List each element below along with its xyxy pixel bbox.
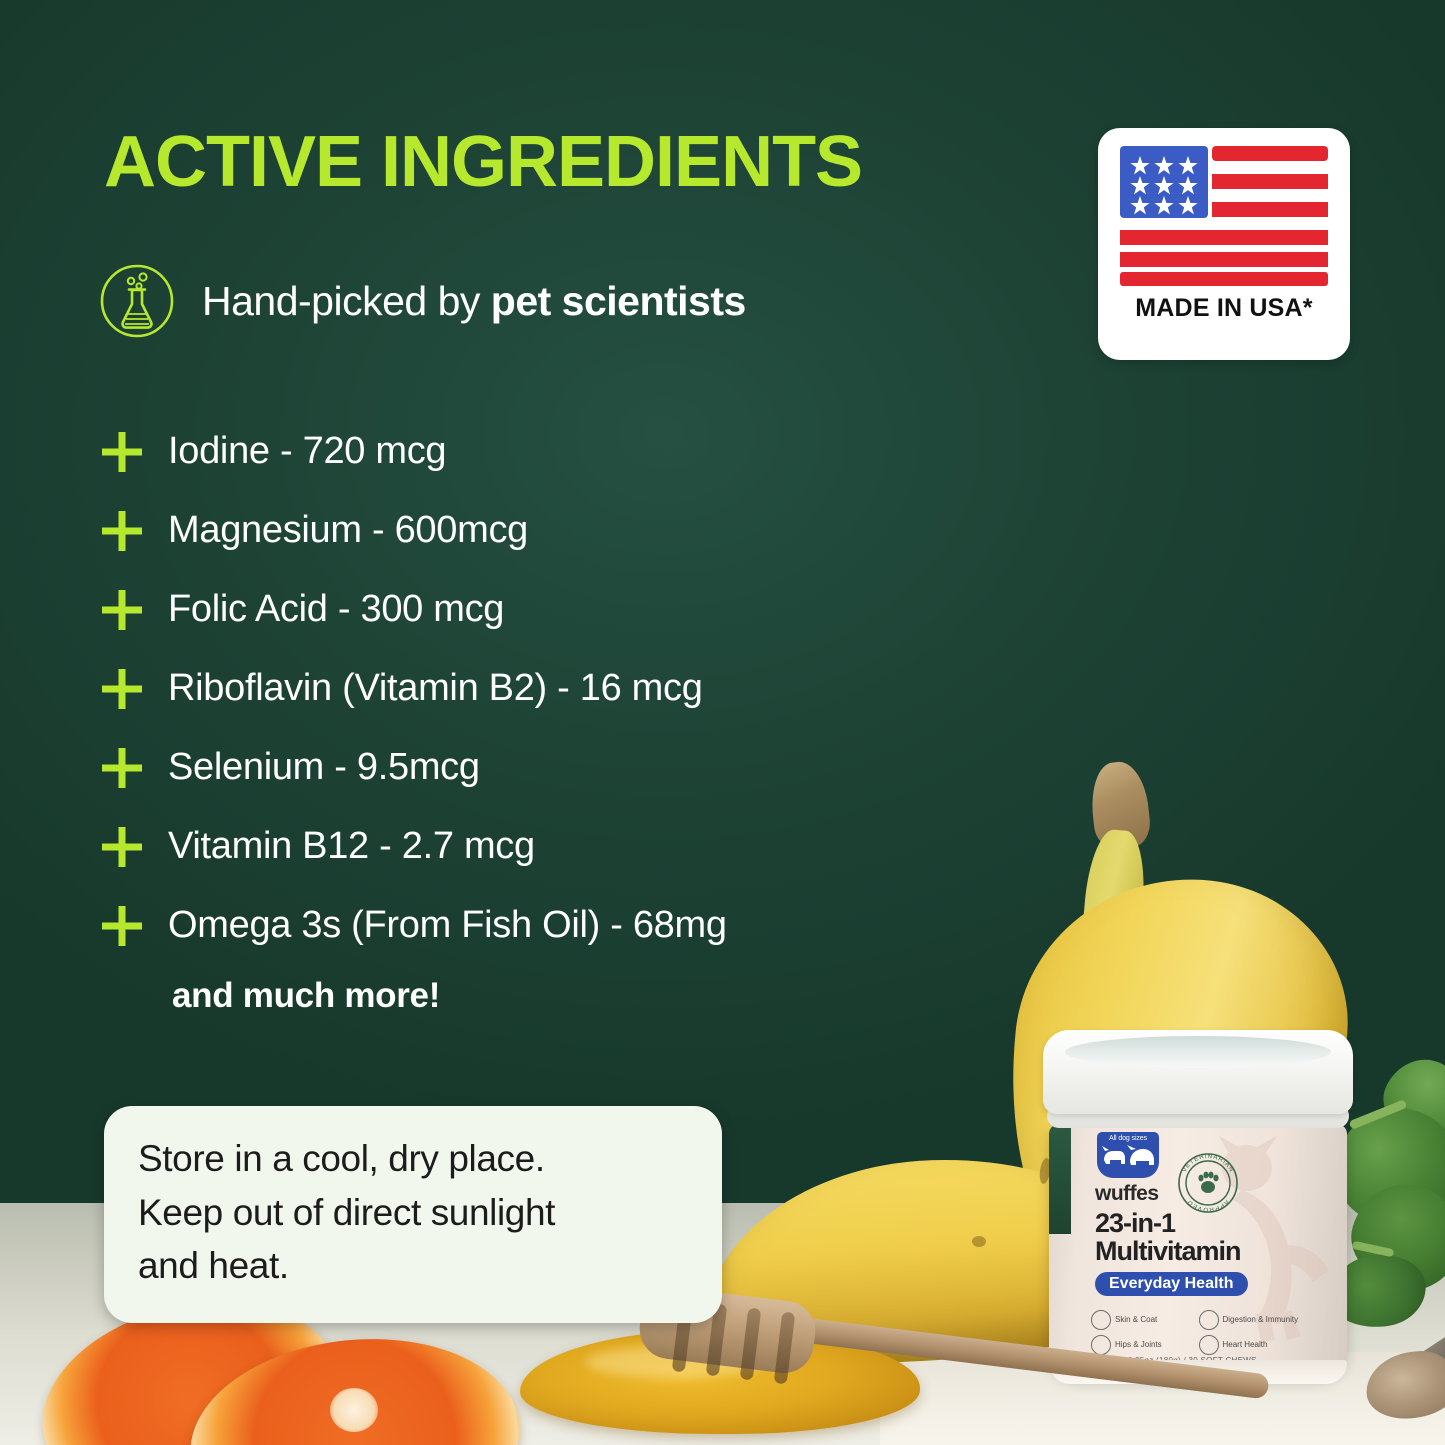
benefit-label: Digestion & Immunity — [1223, 1316, 1299, 1324]
veterinarian-approved-seal: VETERINARIAN APPROVED — [1177, 1152, 1239, 1214]
skin-coat-icon — [1091, 1310, 1111, 1330]
benefit-label: Hips & Joints — [1115, 1341, 1162, 1349]
ingredient-label: Folic Acid - 300 mcg — [168, 588, 504, 631]
page-title: ACTIVE INGREDIENTS — [104, 126, 862, 198]
plus-icon — [100, 588, 144, 632]
storage-line: and heat. — [138, 1239, 688, 1293]
ingredient-row: Omega 3s (From Fish Oil) - 68mg — [100, 886, 1000, 965]
usa-flag-icon — [1120, 144, 1328, 286]
ingredient-label: Riboflavin (Vitamin B2) - 16 mcg — [168, 667, 703, 710]
benefit-label: Skin & Coat — [1115, 1316, 1157, 1324]
ingredient-label: Selenium - 9.5mcg — [168, 746, 480, 789]
ingredient-row: Iodine - 720 mcg — [100, 412, 1000, 491]
jar-lid-opening — [1065, 1036, 1331, 1068]
everyday-health-pill: Everyday Health — [1095, 1272, 1248, 1296]
svg-text:VETERINARIAN: VETERINARIAN — [1181, 1153, 1235, 1174]
subtitle-text: Hand-picked by pet scientists — [202, 278, 746, 325]
product-name-line1: 23-in-1 — [1095, 1208, 1175, 1239]
ingredient-row: Vitamin B12 - 2.7 mcg — [100, 807, 1000, 886]
plus-icon — [100, 667, 144, 711]
storage-line: Keep out of direct sunlight — [138, 1186, 688, 1240]
flask-icon — [98, 262, 176, 340]
ingredient-row: Selenium - 9.5mcg — [100, 728, 1000, 807]
plus-icon — [100, 746, 144, 790]
ingredient-label: Vitamin B12 - 2.7 mcg — [168, 825, 535, 868]
subtitle-plain: Hand-picked by — [202, 278, 491, 324]
plus-icon — [100, 509, 144, 553]
brand-name: wuffes — [1095, 1182, 1159, 1206]
ingredient-row: Riboflavin (Vitamin B2) - 16 mcg — [100, 649, 1000, 728]
plus-icon — [100, 904, 144, 948]
made-in-usa-badge: MADE IN USA* — [1098, 128, 1350, 360]
subtitle-row: Hand-picked by pet scientists — [98, 262, 746, 340]
vet-seal-top-text: VETERINARIAN — [1181, 1153, 1235, 1174]
ingredients-list: Iodine - 720 mcgMagnesium - 600mcgFolic … — [100, 412, 1000, 965]
ingredient-label: Iodine - 720 mcg — [168, 430, 446, 473]
ingredient-row: Folic Acid - 300 mcg — [100, 570, 1000, 649]
plus-icon — [100, 430, 144, 474]
digestion-icon — [1199, 1310, 1219, 1330]
subtitle-bold: pet scientists — [491, 278, 746, 324]
benefit-heart-health: Heart Health — [1199, 1335, 1307, 1355]
hips-joints-icon — [1091, 1335, 1111, 1355]
storage-line: Store in a cool, dry place. — [138, 1132, 688, 1186]
all-dog-sizes-badge: All dog sizes — [1097, 1132, 1159, 1178]
product-jar: All dog sizes wuffes 23-in-1 Multivitami… — [1043, 1030, 1353, 1390]
two-dogs-icon — [1100, 1142, 1156, 1168]
banana-spot — [972, 1236, 986, 1247]
product-name-line2: Multivitamin — [1095, 1236, 1241, 1267]
storage-note-card: Store in a cool, dry place. Keep out of … — [104, 1106, 722, 1323]
benefit-digestion-immunity: Digestion & Immunity — [1199, 1310, 1307, 1330]
orange-slice-core — [330, 1388, 378, 1432]
plus-icon — [100, 825, 144, 869]
benefit-grid: Skin & Coat Digestion & Immunity Hips & … — [1091, 1310, 1306, 1360]
ingredient-row: Magnesium - 600mcg — [100, 491, 1000, 570]
all-dog-sizes-label: All dog sizes — [1097, 1132, 1159, 1142]
benefit-label: Heart Health — [1223, 1341, 1268, 1349]
heart-icon — [1199, 1335, 1219, 1355]
benefit-skin-coat: Skin & Coat — [1091, 1310, 1199, 1330]
jar-body: All dog sizes wuffes 23-in-1 Multivitami… — [1049, 1124, 1347, 1376]
product-infographic: All dog sizes wuffes 23-in-1 Multivitami… — [0, 0, 1445, 1445]
ingredient-label: Magnesium - 600mcg — [168, 509, 528, 552]
ingredient-label: Omega 3s (From Fish Oil) - 68mg — [168, 904, 727, 947]
made-in-usa-label: MADE IN USA* — [1098, 294, 1350, 323]
jar-lid — [1043, 1030, 1353, 1114]
and-much-more-text: and much more! — [172, 976, 440, 1016]
benefit-hips-joints: Hips & Joints — [1091, 1335, 1199, 1355]
jar-side-panel — [1049, 1124, 1071, 1234]
